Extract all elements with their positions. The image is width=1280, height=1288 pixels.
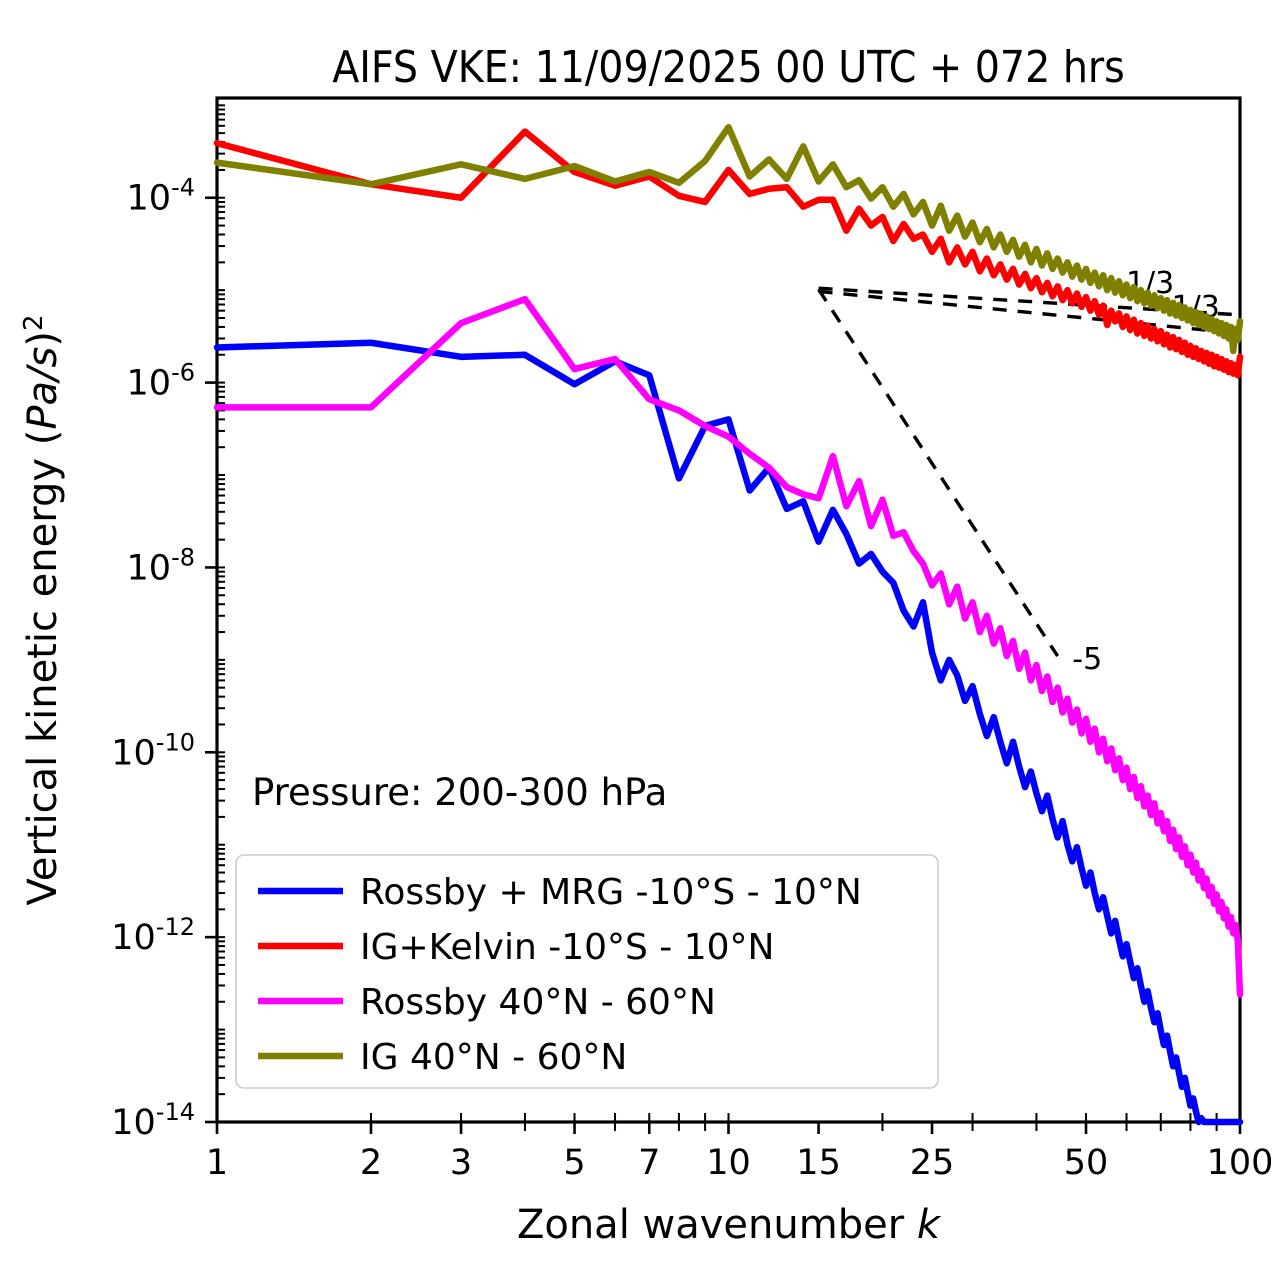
x-tick-label: 7	[638, 1143, 660, 1183]
x-tick-label: 5	[563, 1143, 585, 1183]
x-tick-label: 2	[360, 1143, 382, 1183]
x-tick-label: 10	[706, 1143, 751, 1183]
x-tick-label: 50	[1064, 1143, 1109, 1183]
x-tick-label: 3	[450, 1143, 472, 1183]
reference-label--5: -5	[1072, 642, 1102, 677]
chart-page: AIFS VKE: 11/09/2025 00 UTC + 072 hrs123…	[0, 0, 1280, 1288]
legend-label-0: Rossby + MRG -10°S - 10°N	[360, 872, 862, 913]
y-axis-title: Vertical kinetic energy (Pa/s)2	[19, 315, 66, 906]
chart-title: AIFS VKE: 11/09/2025 00 UTC + 072 hrs	[332, 42, 1125, 93]
y-tick-label: 10-14	[111, 1098, 195, 1143]
y-tick-label: 10-12	[111, 913, 195, 958]
y-tick-label: 10-4	[127, 174, 195, 219]
pressure-annotation: Pressure: 200-300 hPa	[252, 771, 667, 814]
y-tick-label: 10-10	[111, 728, 195, 773]
legend-label-2: Rossby 40°N - 60°N	[360, 982, 716, 1023]
legend-label-3: IG 40°N - 60°N	[360, 1037, 627, 1078]
y-tick-label: 10-6	[127, 359, 195, 404]
legend-label-1: IG+Kelvin -10°S - 10°N	[360, 927, 774, 968]
vke-spectrum-chart: AIFS VKE: 11/09/2025 00 UTC + 072 hrs123…	[0, 0, 1280, 1288]
x-tick-label: 15	[796, 1143, 841, 1183]
y-tick-label: 10-8	[127, 543, 195, 588]
x-axis-title: Zonal wavenumber k	[517, 1202, 942, 1248]
x-tick-label: 1	[206, 1143, 228, 1183]
x-tick-label: 25	[910, 1143, 955, 1183]
x-tick-label: 100	[1207, 1143, 1274, 1183]
